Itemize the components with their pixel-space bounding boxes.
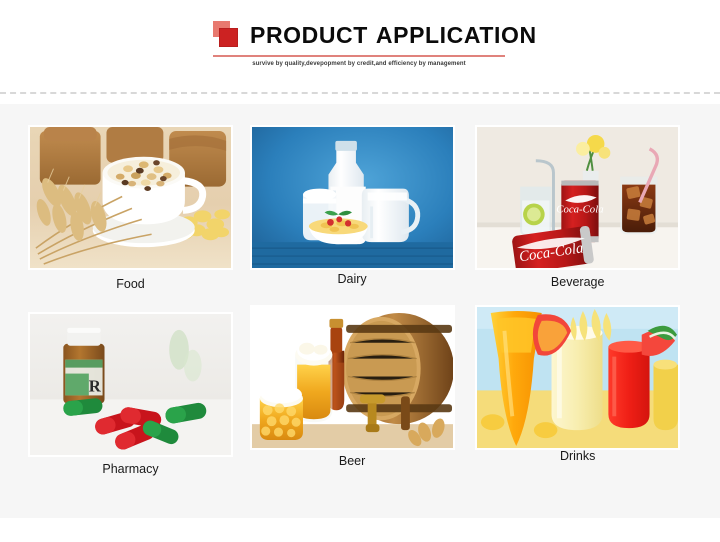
page-title-word-application: APPLICATION (376, 22, 537, 48)
gallery-row: Food (26, 125, 694, 318)
page-title: PRODUCTAPPLICATION (250, 24, 537, 47)
dashed-divider (0, 92, 720, 94)
gallery-caption-drinks: Drinks (475, 449, 680, 463)
gallery-item-beer[interactable]: Beer (249, 318, 472, 511)
header-title-block: PRODUCTAPPLICATION survive by quality,de… (213, 18, 505, 67)
two-squares-logo-icon (213, 20, 243, 50)
svg-text:R: R (89, 376, 102, 395)
gallery-caption-food: Food (28, 277, 233, 291)
slide-header: PRODUCTAPPLICATION survive by quality,de… (0, 0, 720, 92)
gallery-caption-beer: Beer (250, 454, 455, 468)
cereal-bowl-wheat-photo[interactable] (28, 125, 233, 270)
product-gallery-grid: Food (26, 125, 694, 511)
gallery-caption-pharmacy: Pharmacy (28, 462, 233, 476)
milk-bottle-jug-photo[interactable] (250, 125, 455, 270)
logo-square-dark (219, 28, 238, 47)
svg-text:Coca-Cola: Coca-Cola (556, 203, 604, 215)
fruit-smoothies-photo[interactable] (475, 305, 680, 450)
gallery-item-food[interactable]: Food (26, 125, 249, 318)
gallery-caption-dairy: Dairy (250, 272, 455, 286)
content-panel: Food (0, 104, 720, 518)
title-underline-rule (213, 55, 505, 57)
gallery-item-beverage[interactable]: Coca-Cola Coca-Cola Beverage (471, 125, 694, 318)
header-subtitle: survive by quality,devepopment by credit… (213, 61, 505, 67)
gallery-caption-beverage: Beverage (475, 275, 680, 289)
gallery-item-drinks[interactable]: Drinks (471, 318, 694, 511)
cola-cans-glass-photo[interactable]: Coca-Cola Coca-Cola (475, 125, 680, 270)
page-title-word-product: PRODUCT (250, 22, 368, 48)
beer-glass-barrel-photo[interactable] (250, 305, 455, 450)
pill-bottle-capsules-photo[interactable]: R (28, 312, 233, 457)
gallery-item-dairy[interactable]: Dairy (249, 125, 472, 318)
title-row: PRODUCTAPPLICATION (213, 18, 505, 52)
gallery-item-pharmacy[interactable]: R (26, 318, 249, 511)
gallery-row: R (26, 318, 694, 511)
